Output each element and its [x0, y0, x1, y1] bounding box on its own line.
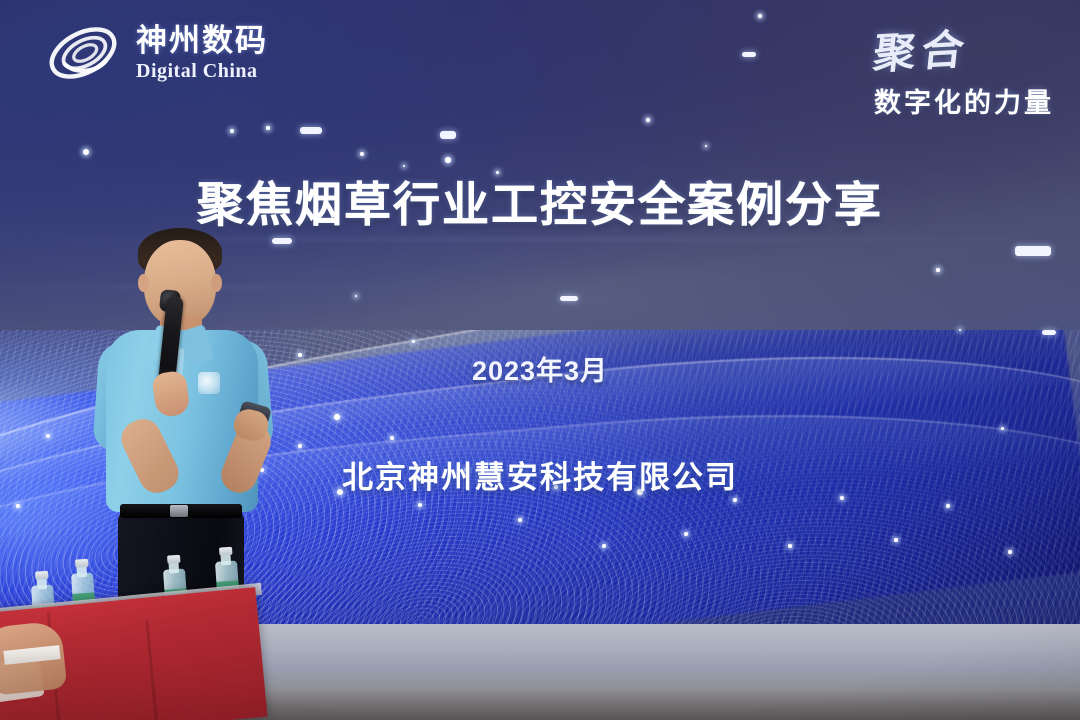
- light-streak: [300, 127, 322, 134]
- light-streak: [440, 131, 456, 139]
- light-particle: [266, 126, 269, 129]
- light-particle: [946, 504, 950, 508]
- event-slogan: 聚合 数字化的力量: [874, 18, 1054, 120]
- light-streak: [1015, 246, 1051, 256]
- light-particle: [355, 295, 358, 298]
- presenter-ear: [138, 274, 149, 292]
- brand-name-cn: 神州数码: [136, 25, 268, 56]
- light-particle: [894, 538, 897, 541]
- light-particle: [83, 149, 89, 155]
- light-particle: [360, 152, 364, 156]
- light-particle: [403, 165, 406, 168]
- light-streak: [742, 52, 756, 57]
- light-particle: [646, 118, 650, 122]
- presenter-ear: [211, 274, 222, 292]
- brand-name-en: Digital China: [136, 61, 268, 81]
- digital-china-logo: 神州数码 Digital China: [42, 20, 268, 86]
- light-particle: [936, 268, 939, 271]
- slogan-brush-text: 聚合: [870, 16, 973, 82]
- light-particle: [788, 544, 792, 548]
- light-particle: [758, 14, 762, 18]
- light-particle: [1001, 427, 1004, 430]
- light-particle: [334, 414, 340, 420]
- light-particle: [1008, 550, 1012, 554]
- light-particle: [445, 157, 450, 162]
- presenter: [92, 222, 282, 632]
- presenter-belt-buckle: [170, 505, 188, 517]
- light-particle: [412, 340, 415, 343]
- light-streak: [560, 296, 578, 301]
- light-particle: [684, 532, 688, 536]
- light-particle: [496, 171, 499, 174]
- light-particle: [16, 504, 19, 507]
- light-particle: [46, 434, 50, 438]
- light-streak: [1042, 330, 1056, 335]
- light-particle: [602, 544, 606, 548]
- light-particle: [705, 145, 708, 148]
- slogan-sub-text: 数字化的力量: [874, 81, 1054, 120]
- presenter-shirt-logo: [198, 372, 220, 394]
- light-particle: [390, 436, 394, 440]
- light-particle: [230, 129, 234, 133]
- swirl-logo-icon: [42, 20, 124, 86]
- conference-photo-scene: 神州数码 Digital China 聚合 数字化的力量 聚焦烟草行业工控安全案…: [0, 0, 1080, 720]
